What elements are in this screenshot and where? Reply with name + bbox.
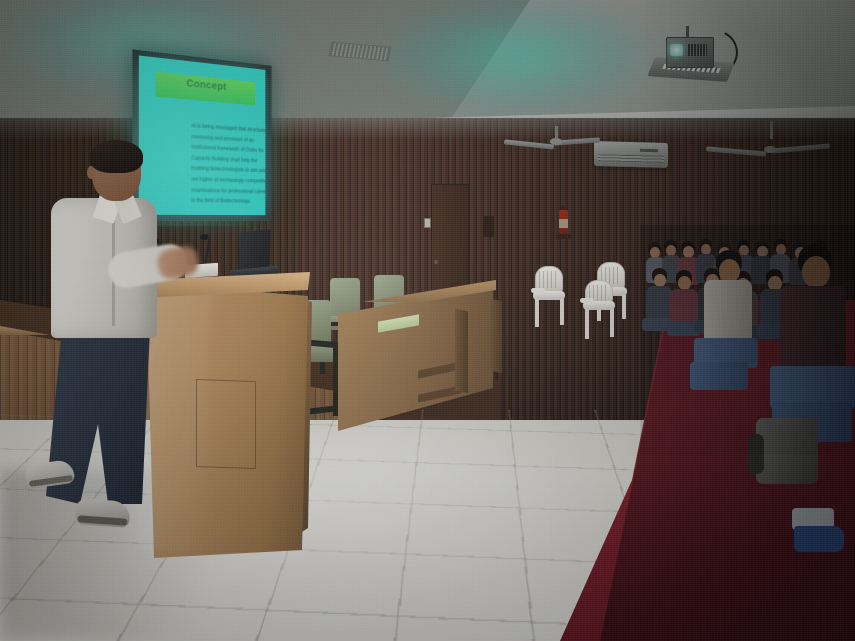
projector-vent-icon [688, 44, 707, 56]
slide-bullet: in the field of Biotechnology. [191, 196, 265, 208]
projector-lens-icon [670, 44, 683, 56]
projector-glow-right [370, 0, 670, 120]
podium-front-inset [196, 379, 256, 469]
photo-scene: Concept It is being envisaged that struc… [0, 0, 855, 641]
projection-screen: Concept It is being envisaged that struc… [139, 55, 265, 215]
microphone-head-icon [200, 234, 209, 240]
table-leg [490, 299, 502, 374]
speaker-hair [90, 140, 143, 173]
backpack-strap [748, 434, 764, 474]
table-leg [455, 309, 468, 394]
slide-bullet-list: It is being envisaged that structured me… [151, 118, 265, 207]
backpack-foreground [756, 418, 818, 484]
